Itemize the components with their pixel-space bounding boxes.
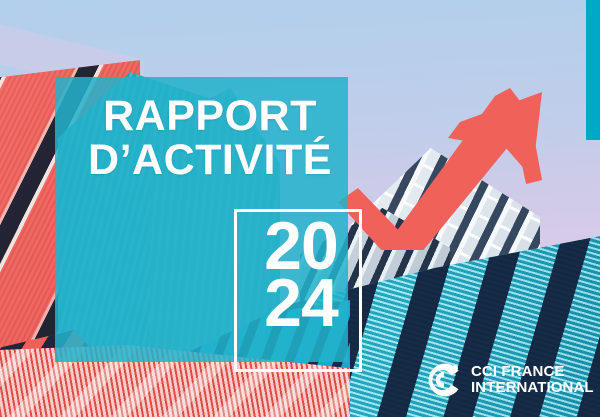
page-title: RAPPORT D’ACTIVITÉ xyxy=(55,96,365,181)
logo-line-2: INTERNATIONAL xyxy=(471,380,594,396)
report-cover-poster: RAPPORT D’ACTIVITÉ 20 24 CCI FRANCE INTE… xyxy=(0,0,600,417)
year-label: 20 24 xyxy=(246,218,356,332)
year-bottom-digits: 24 xyxy=(246,275,356,332)
logo-wordmark: CCI FRANCE INTERNATIONAL xyxy=(471,364,594,395)
cci-circle-c-icon xyxy=(424,360,464,400)
upward-trend-arrow-icon xyxy=(330,80,570,250)
cci-france-international-logo: CCI FRANCE INTERNATIONAL xyxy=(424,360,594,400)
title-line-1: RAPPORT xyxy=(55,96,365,138)
title-line-2: D’ACTIVITÉ xyxy=(55,140,365,182)
logo-line-1: CCI FRANCE xyxy=(471,364,594,380)
teal-vertical-strip xyxy=(586,0,600,140)
